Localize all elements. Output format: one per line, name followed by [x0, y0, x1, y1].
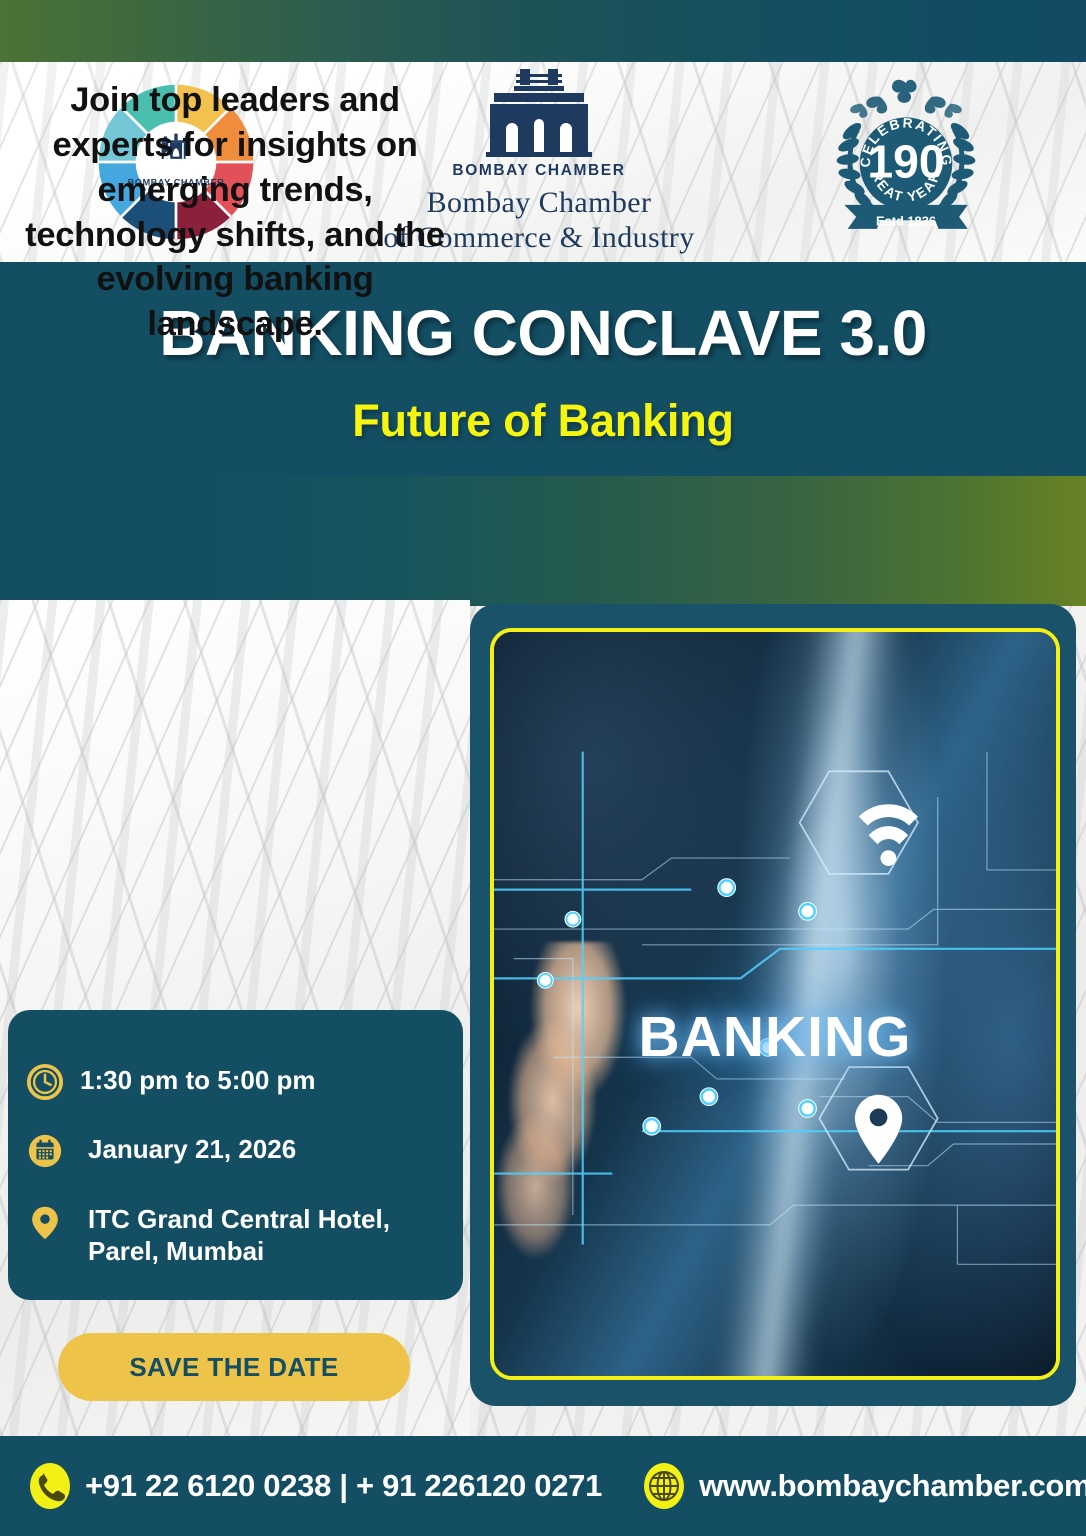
secondary-gradient-band [0, 476, 1086, 606]
badge-ribbon-text: Estd 1836 [876, 213, 936, 228]
map-pin-icon [855, 1095, 902, 1164]
event-poster: BOMBAY CHAMBER [0, 0, 1086, 1536]
event-description: Join top leaders and experts for insight… [14, 78, 456, 347]
footer-phone-text: +91 22 6120 0238 | + 91 226120 0271 [85, 1468, 602, 1504]
location-pin-icon [26, 1202, 64, 1240]
banking-overlay-text: BANKING [494, 1004, 1056, 1070]
detail-venue-label: ITC Grand Central Hotel, Parel, Mumbai [88, 1202, 463, 1267]
gateway-of-india-icon [464, 69, 614, 161]
event-details-card: 1:30 pm to 5:00 pm [8, 1010, 463, 1300]
calendar-icon [26, 1132, 64, 1170]
footer-website-text: www.bombaychamber.com [699, 1468, 1086, 1504]
clock-icon [26, 1063, 64, 1101]
wifi-icon [859, 804, 918, 866]
top-gradient-strip [0, 0, 1086, 62]
detail-date-label: January 21, 2026 [88, 1132, 296, 1166]
poster-footer: +91 22 6120 0238 | + 91 226120 0271 www. [0, 1436, 1086, 1536]
globe-icon [642, 1461, 686, 1511]
phone-icon [28, 1461, 72, 1511]
detail-time-label: 1:30 pm to 5:00 pm [80, 1063, 316, 1097]
photo-frame: BANKING [490, 628, 1060, 1380]
anniversary-badge: CELEBRATING GREAT YEARS 190 Estd 1836 [818, 78, 994, 246]
page-subtitle: Future of Banking [0, 395, 1086, 447]
save-the-date-button[interactable]: SAVE THE DATE [58, 1333, 410, 1401]
banking-photo: BANKING [494, 632, 1056, 1376]
footer-phone: +91 22 6120 0238 | + 91 226120 0271 [28, 1461, 602, 1511]
detail-row-time: 1:30 pm to 5:00 pm [26, 1063, 316, 1101]
badge-number: 190 [868, 135, 945, 187]
footer-website: www.bombaychamber.com [642, 1461, 1086, 1511]
detail-row-date: January 21, 2026 [26, 1132, 296, 1170]
detail-row-venue: ITC Grand Central Hotel, Parel, Mumbai [26, 1202, 463, 1267]
gradient-fill [200, 476, 1086, 606]
